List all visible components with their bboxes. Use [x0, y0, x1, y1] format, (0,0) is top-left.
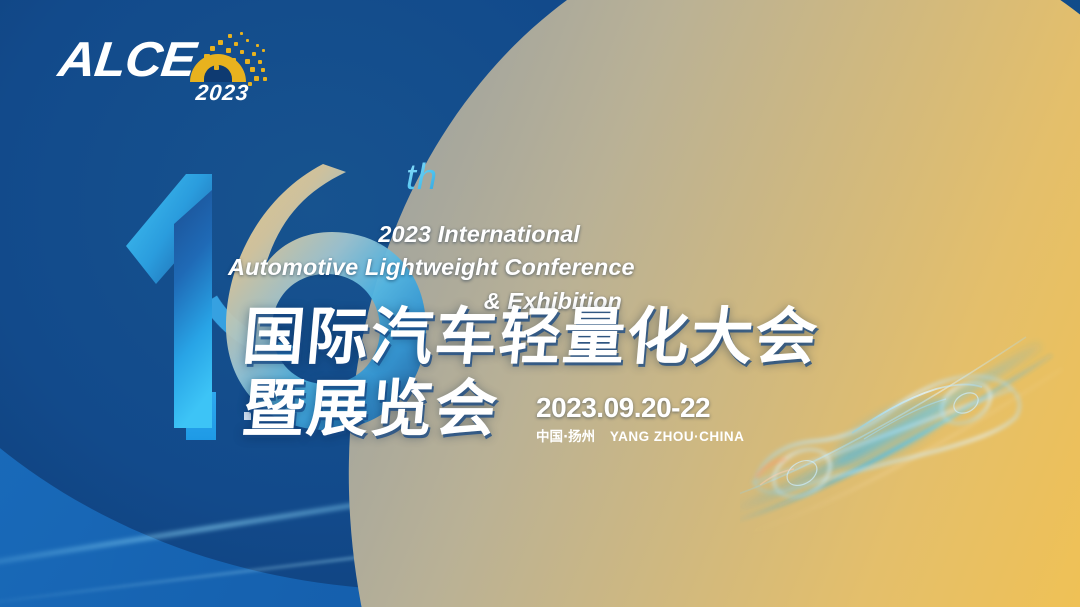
english-title-line1: 2023 International	[228, 218, 630, 251]
event-location-cn: 中国·扬州	[536, 429, 595, 445]
logo-particles-icon	[182, 32, 268, 86]
conference-banner: th ALCE	[0, 0, 1080, 607]
chinese-title-line1: 国际汽车轻量化大会	[240, 306, 821, 368]
event-dates: 2023.09.20-22	[536, 394, 744, 422]
event-date-block: 2023.09.20-22 中国·扬州 YANG ZHOU·CHINA	[536, 394, 744, 445]
cyan-square-accent	[186, 392, 216, 440]
event-location-en: YANG ZHOU·CHINA	[610, 429, 745, 444]
alce-logo: ALCE 2023	[62, 30, 262, 106]
chinese-title-line2: 暨展览会	[240, 378, 501, 440]
light-streak-one	[0, 455, 656, 582]
event-location: 中国·扬州 YANG ZHOU·CHINA	[536, 430, 744, 445]
english-title-line2: Automotive Lightweight Conference	[228, 251, 630, 284]
edition-ordinal-suffix: th	[406, 156, 438, 198]
logo-wordmark: ALCE	[56, 36, 198, 85]
light-streak-two	[0, 497, 837, 607]
logo-year: 2023	[195, 80, 251, 106]
